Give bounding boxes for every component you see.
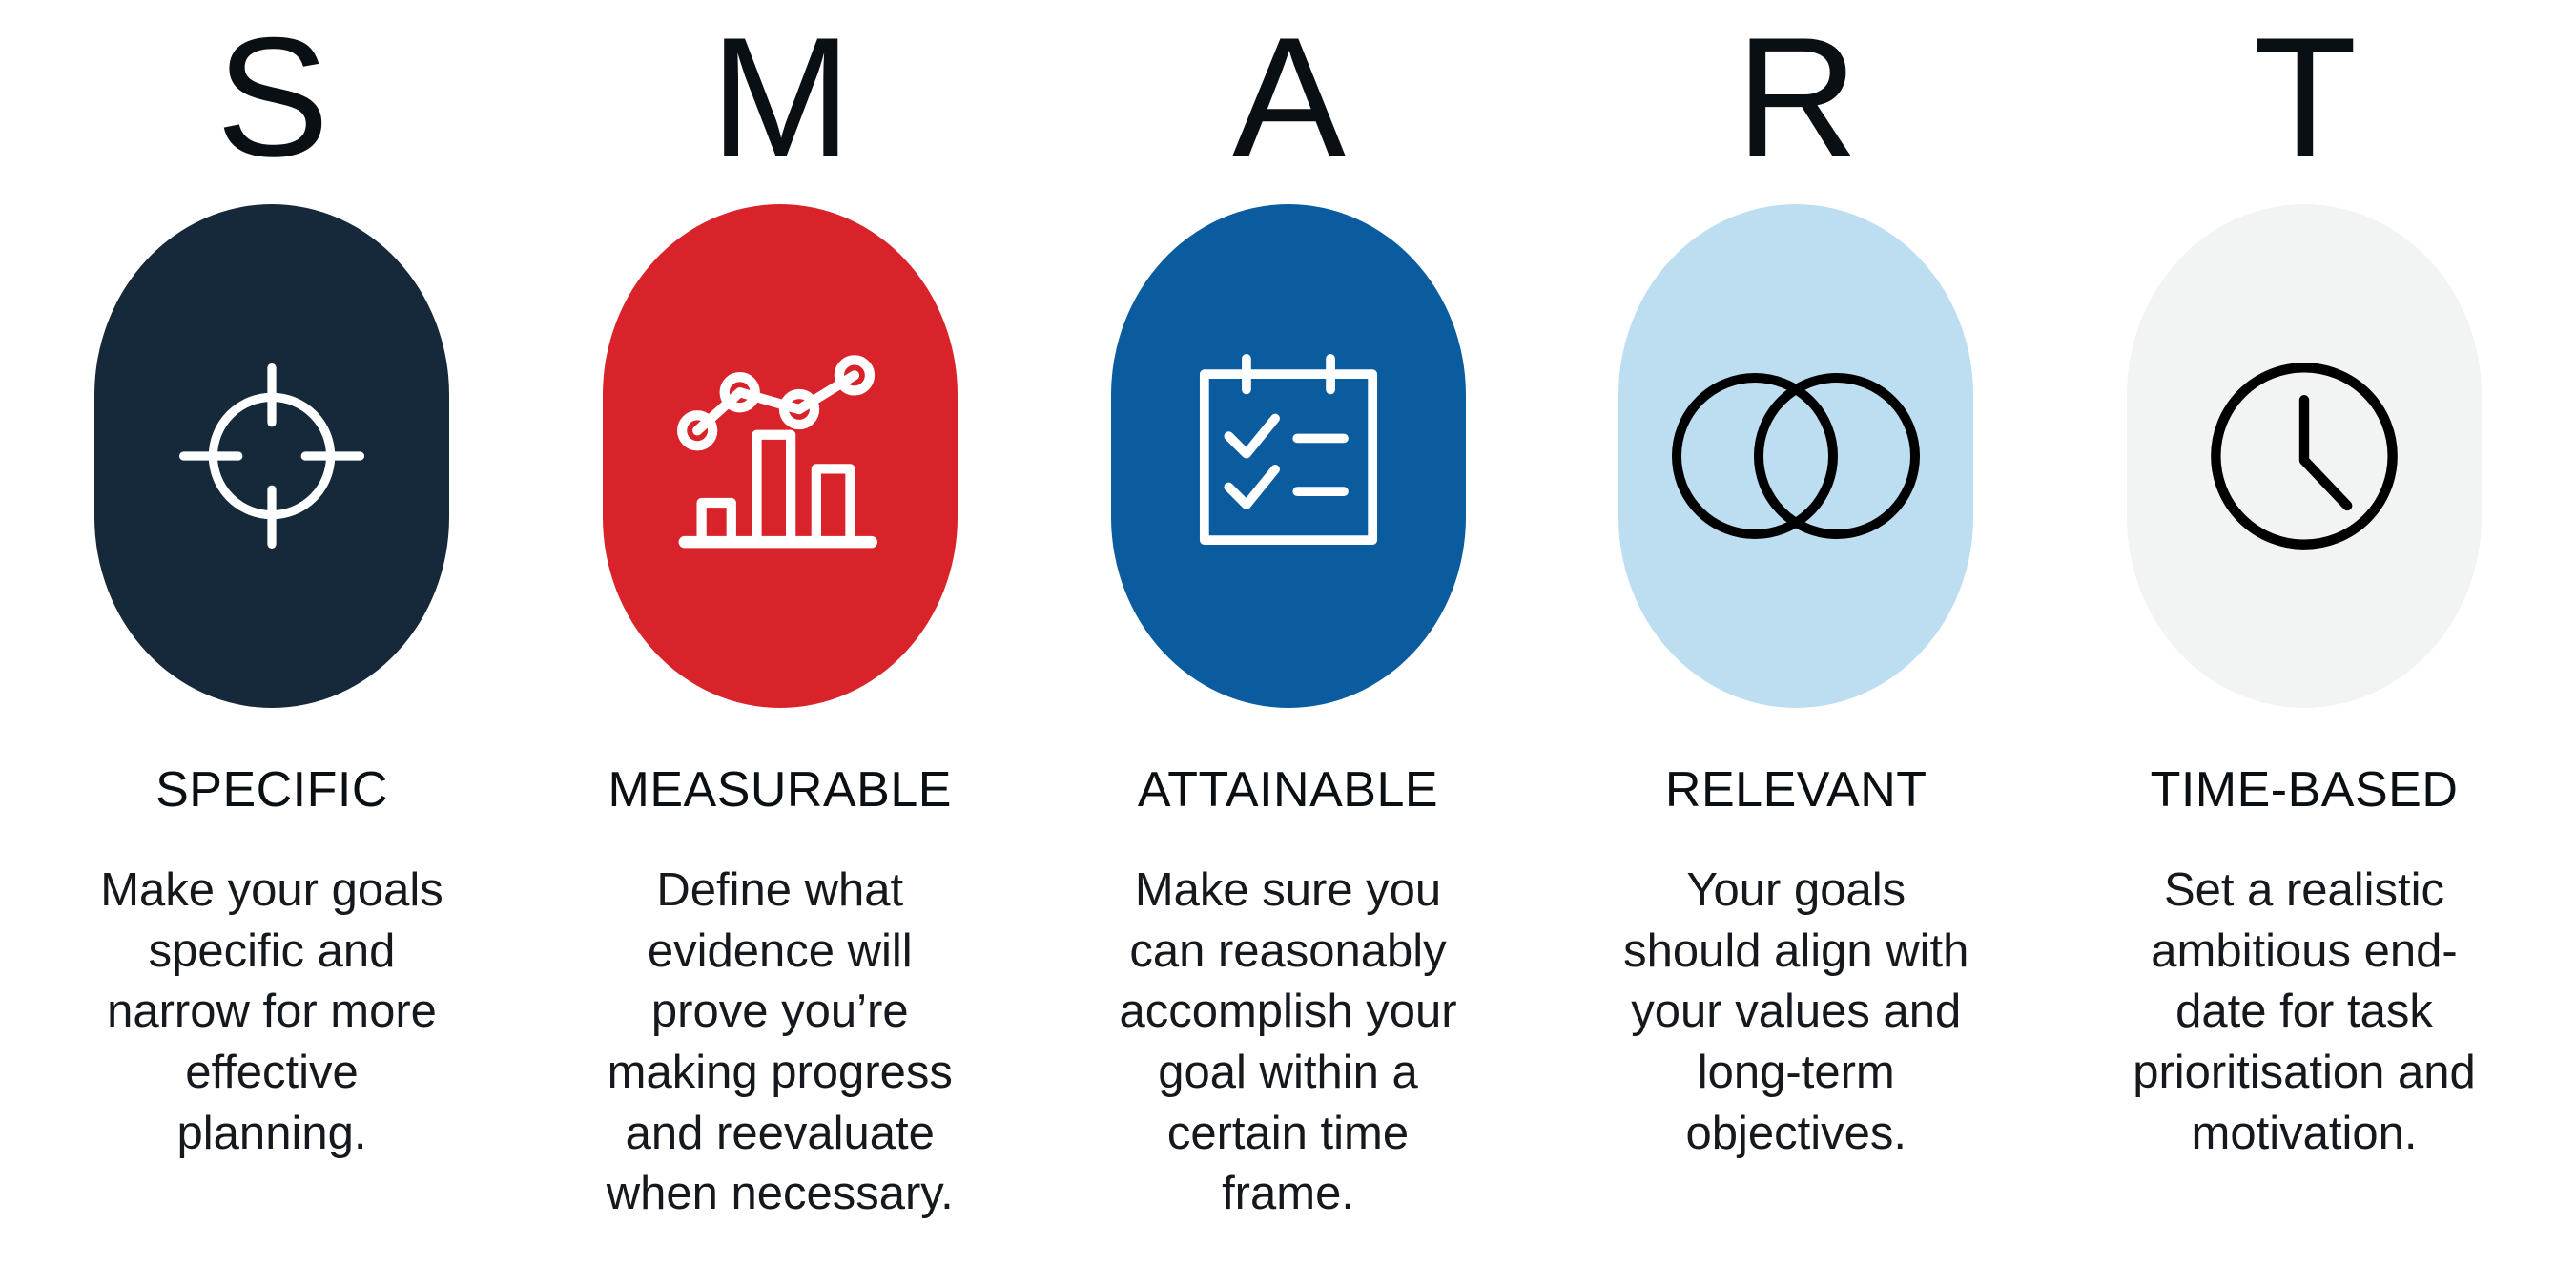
column-body-time-based: Set a realistic ambitious end-date for t… bbox=[2108, 861, 2501, 1164]
column-body-relevant: Your goals should align with your values… bbox=[1615, 861, 1977, 1164]
smart-column-specific: S SPECIFIC Make your goals specific and … bbox=[48, 0, 496, 1164]
clock-icon bbox=[2196, 348, 2412, 564]
column-title-measurable: MEASURABLE bbox=[608, 761, 952, 819]
smart-column-attainable: A ATTAINABLE Make sure you ca bbox=[1064, 0, 1513, 1225]
column-body-specific: Make your goals specific and narrow for … bbox=[91, 861, 453, 1164]
letter-a: A bbox=[1232, 4, 1344, 191]
icon-pill-measurable bbox=[603, 204, 958, 708]
letter-s: S bbox=[216, 4, 328, 191]
column-title-relevant: RELEVANT bbox=[1665, 761, 1927, 819]
bar-line-chart-icon bbox=[668, 348, 893, 564]
smart-goals-infographic: S SPECIFIC Make your goals specific and … bbox=[0, 0, 2576, 1287]
letter-t: T bbox=[2254, 4, 2356, 191]
icon-pill-specific bbox=[94, 204, 449, 708]
smart-column-relevant: R RELEVANT Your goals should align with … bbox=[1572, 0, 2020, 1164]
venn-diagram-icon bbox=[1658, 361, 1934, 551]
letter-m: M bbox=[711, 4, 850, 191]
icon-pill-relevant bbox=[1618, 204, 1973, 708]
column-title-specific: SPECIFIC bbox=[155, 761, 388, 819]
column-title-attainable: ATTAINABLE bbox=[1138, 761, 1438, 819]
icon-pill-time-based bbox=[2127, 204, 2482, 708]
letter-r: R bbox=[1736, 4, 1857, 191]
target-crosshair-icon bbox=[167, 351, 377, 561]
column-body-measurable: Define what evidence will prove you’re m… bbox=[584, 861, 977, 1225]
smart-column-measurable: M MEASURABL bbox=[556, 0, 1004, 1225]
smart-column-time-based: T TIME-BASED Set a realistic ambitious e… bbox=[2080, 0, 2528, 1164]
column-title-time-based: TIME-BASED bbox=[2151, 761, 2459, 819]
column-body-attainable: Make sure you can reasonably accomplish … bbox=[1107, 861, 1470, 1225]
icon-pill-attainable bbox=[1111, 204, 1466, 708]
calendar-checklist-icon bbox=[1178, 345, 1399, 567]
